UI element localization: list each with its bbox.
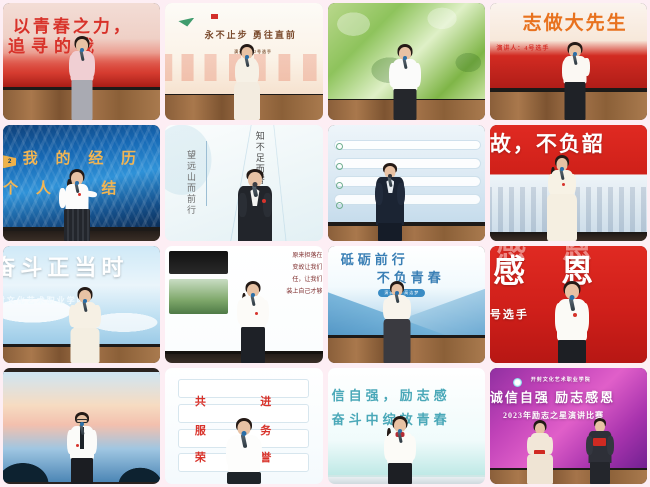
photo-cell-10[interactable]: 原来担落在 变故让我们 任，让我们 装上自己才够 <box>165 246 322 363</box>
skirt <box>71 458 93 484</box>
arm-left <box>389 63 397 87</box>
microphone-head <box>573 52 577 56</box>
screen-top-caption <box>360 371 363 376</box>
arm-left <box>67 430 74 454</box>
trousers <box>71 80 92 120</box>
photo-cell-4[interactable]: 志做大先生 演讲人：4号选手 <box>490 3 647 120</box>
photo-scene: 原来担落在 变故让我们 任，让我们 装上自己才够 <box>165 246 322 363</box>
divider-line <box>206 141 207 206</box>
speaker-figure <box>231 44 263 120</box>
arm-left <box>238 193 247 217</box>
school-emblem-icon <box>513 378 522 387</box>
photo-scene: 知不足而奢进 望远山而前行 <box>165 125 322 242</box>
gown-skirt <box>527 454 553 484</box>
photo-cell-14[interactable]: 共 进 服 务 荣 誉 <box>165 368 322 485</box>
party-emblem-badge <box>262 199 266 203</box>
host-figure-female <box>525 420 555 484</box>
skirt <box>393 89 416 120</box>
microphone-head <box>245 55 249 59</box>
red-script-card <box>593 438 606 446</box>
speaker-figure <box>372 163 408 241</box>
list-icon-4 <box>336 202 343 209</box>
list-icon-2 <box>336 163 343 170</box>
photo-scene: 以青春之力， 追寻的我 <box>3 3 160 120</box>
photo-cell-15[interactable]: 诚信自强，励志感 在奋斗中绽放青春 <box>328 368 485 485</box>
flag-icon <box>211 14 218 19</box>
screen-heading-line1: 故，不负韶 <box>490 133 605 155</box>
arm-left <box>562 60 569 81</box>
speaker-figure <box>545 155 579 241</box>
arm-right <box>263 193 272 217</box>
microphone-head <box>252 182 257 187</box>
arm-left <box>384 436 392 460</box>
screen-school-name: 开封文化艺术职业学院 <box>531 378 591 383</box>
speaker-figure <box>233 169 277 241</box>
screen-heading-vertical-left: 望远山而前行 <box>185 150 198 216</box>
speaker-figure <box>65 412 99 484</box>
arm-right <box>547 437 553 454</box>
screen-heading-line1: 我 的 经 历 <box>23 152 143 168</box>
skirt <box>241 327 265 363</box>
arm-right <box>569 174 576 194</box>
microphone-head <box>251 293 255 297</box>
speaker-figure <box>65 36 99 120</box>
photo-scene: 诚信自强，励志感 在奋斗中绽放青春 <box>328 368 485 485</box>
photo-cell-9[interactable]: 奋斗正当时 开封文化艺术职业学院 <box>3 246 160 363</box>
list-icon-1 <box>336 143 343 150</box>
photo-cell-6[interactable]: 知不足而奢进 望远山而前行 <box>165 125 322 242</box>
photo-scene <box>328 125 485 242</box>
photo-cell-2[interactable]: 永不止步 勇往直前 演讲人：2号选手 <box>165 3 322 120</box>
skirt <box>388 463 412 484</box>
microphone-head <box>83 299 87 303</box>
arm-left <box>69 55 75 77</box>
arm-right <box>253 62 259 82</box>
photo-cell-8[interactable]: 故，不负韶 <box>490 125 647 242</box>
photo-scene: 故，不负韶 <box>490 125 647 242</box>
arm-left <box>548 174 555 194</box>
skirt <box>558 340 586 363</box>
screen-heading-line1: 奋斗正当时 <box>3 256 128 279</box>
speaker-figure <box>382 416 418 484</box>
paper-plane-icon <box>178 18 194 27</box>
photo-cell-12[interactable]: 感 恩 感 恩 号选手 <box>490 246 647 363</box>
microphone-head <box>80 422 84 426</box>
arm-right <box>413 63 421 87</box>
microphone-head <box>569 295 574 300</box>
speaker-figure <box>380 281 414 363</box>
arm-left <box>226 439 236 467</box>
arm-right <box>404 299 411 319</box>
photo-cell-11[interactable]: 砥砺前行 不负青春 演讲人：高洁梦 <box>328 246 485 363</box>
skirt <box>234 82 260 120</box>
dress-skirt <box>70 328 99 363</box>
photo-cell-5[interactable]: 2 我 的 经 历 个 人 总 结 <box>3 125 160 242</box>
skirt <box>564 82 585 120</box>
lapel-badge <box>573 313 577 317</box>
screen-text-line: 原来担落在 <box>241 250 323 259</box>
speaker-figure <box>224 418 264 484</box>
speaker-figure <box>559 42 591 120</box>
speaker-figure <box>67 287 103 363</box>
long-skirt <box>383 319 410 363</box>
inset-photo-1 <box>169 251 228 274</box>
screen-subheading: 号选手 <box>490 310 529 322</box>
microphone-head <box>241 431 246 436</box>
lapel-badge <box>78 193 81 196</box>
screen-heading-line1: 志做大先生 <box>523 14 628 34</box>
dress-skirt <box>547 194 577 241</box>
host-figure-male <box>585 418 615 484</box>
screen-heading-line1: 诚信自强 励志感恩 <box>490 391 615 405</box>
arm-right <box>580 303 589 333</box>
arm-left <box>59 188 66 208</box>
inset-photo-2 <box>169 279 228 315</box>
arm-right <box>252 439 262 467</box>
microphone-head <box>398 429 402 433</box>
screen-text-line: 变故让我们 <box>241 262 323 271</box>
trousers <box>378 223 402 241</box>
arm-right <box>90 430 97 454</box>
speaker-figure <box>57 169 97 241</box>
screen-heading-line1: 以青春之力， <box>13 18 133 36</box>
lapel-badge <box>76 444 79 447</box>
arm-right-puff <box>93 305 101 327</box>
screen-subheading: 演讲人：4号选手 <box>496 46 549 52</box>
list-icon-3 <box>336 182 343 189</box>
arm-left <box>586 436 593 455</box>
photo-cell-3[interactable] <box>328 3 485 120</box>
speaker-figure <box>387 44 423 120</box>
lapel-badge <box>562 183 565 186</box>
photo-cell-13[interactable] <box>3 368 160 485</box>
microphone-head <box>560 167 564 171</box>
photo-grid-gallery: 以青春之力， 追寻的我 永不止步 勇往直前 演讲人：2号选 <box>0 0 650 487</box>
microphone-head <box>75 181 79 185</box>
screen-keyword-5: 荣 <box>195 453 206 465</box>
screen-keyword-2: 进 <box>260 397 271 409</box>
microphone-head <box>388 174 392 178</box>
screen-heading-line1: 砥砺前行 <box>341 253 409 267</box>
photo-scene: 志做大先生 演讲人：4号选手 <box>490 3 647 120</box>
screen-heading-line1: 永不止步 勇往直前 <box>205 31 297 40</box>
photo-scene: 永不止步 勇往直前 演讲人：2号选手 <box>165 3 322 120</box>
arm-right <box>89 55 95 77</box>
arm-left <box>527 437 533 454</box>
stage-floor <box>490 470 647 484</box>
arm-right <box>607 436 614 455</box>
photo-scene <box>328 3 485 120</box>
lectern <box>227 472 261 484</box>
arm-left <box>375 183 383 205</box>
photo-cell-1[interactable]: 以青春之力， 追寻的我 <box>3 3 160 120</box>
microphone-head <box>395 291 399 295</box>
photo-scene: 开封文化艺术职业学院 诚信自强 励志感恩 2023年励志之星演讲比赛 <box>490 368 647 485</box>
screen-heading-line1: 诚信自强，励志感 <box>328 389 451 403</box>
arm-left-puff <box>69 305 77 327</box>
photo-scene: 砥砺前行 不负青春 演讲人：高洁梦 <box>328 246 485 363</box>
arm-right <box>261 300 269 324</box>
arm-right <box>408 436 416 460</box>
list-row <box>334 140 481 150</box>
microphone-head <box>403 56 407 60</box>
photo-cell-7[interactable] <box>328 125 485 242</box>
screen-keyword-1: 共 <box>195 397 206 409</box>
trousers <box>590 462 610 484</box>
arm-left <box>555 303 564 333</box>
photo-scene <box>3 368 160 485</box>
photo-cell-16[interactable]: 开封文化艺术职业学院 诚信自强 励志感恩 2023年励志之星演讲比赛 <box>490 368 647 485</box>
screen-keyword-3: 服 <box>195 426 206 438</box>
microphone-head <box>80 48 84 52</box>
pleated-skirt <box>64 209 90 241</box>
arm-left <box>383 299 390 319</box>
speaker-figure <box>553 281 591 363</box>
arm-left <box>235 62 241 82</box>
arm-right <box>583 58 590 76</box>
photo-scene: 2 我 的 经 历 个 人 总 结 <box>3 125 160 242</box>
speaker-figure <box>235 281 271 363</box>
backdrop-screen: 开封文化艺术职业学院 诚信自强 励志感恩 2023年励志之星演讲比赛 <box>490 368 647 468</box>
photo-scene: 感 恩 感 恩 号选手 <box>490 246 647 363</box>
arm-left <box>237 300 245 324</box>
photo-scene: 共 进 服 务 荣 誉 <box>165 368 322 485</box>
arm-right <box>397 183 405 205</box>
photo-scene: 奋斗正当时 开封文化艺术职业学院 <box>3 246 160 363</box>
